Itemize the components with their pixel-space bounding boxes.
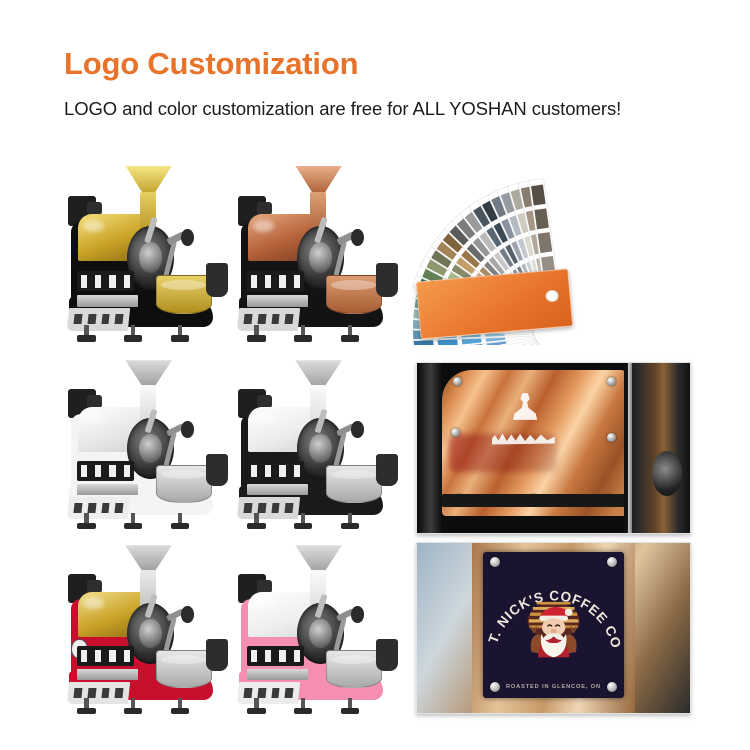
product-gallery: ST. NICK'S COFFEE CO. [0,150,750,725]
page-title: Logo Customization [64,48,704,79]
red-roaster-image [55,538,235,718]
brand-tagline: ROASTED IN GLENCOE, ON [491,684,616,690]
brand-badge-plate: ST. NICK'S COFFEE CO. [483,552,625,698]
gallery-item-white-roaster[interactable] [55,353,235,533]
copper-drum-cover [442,370,628,516]
header: Logo Customization LOGO and color custom… [64,48,704,119]
branded-label-scene: ST. NICK'S COFFEE CO. [417,543,690,713]
color-swatch-fan-image [412,160,702,345]
gallery-item-gold-roaster[interactable] [55,158,235,346]
white-roaster-image [55,353,235,533]
roaster-mechanism-side [624,363,690,533]
gold-roaster-image [55,158,235,346]
gallery-item-pink-roaster[interactable] [225,538,405,718]
copper-roaster-image [225,158,405,346]
black-roaster-image [225,353,405,533]
engraved-logo-mark-icon [508,393,541,428]
pink-roaster-image [225,538,405,718]
gallery-item-red-roaster[interactable] [55,538,235,718]
copper-drum-photo-frame [416,362,691,534]
gallery-item-black-roaster[interactable] [225,353,405,533]
gallery-item-branded-label-photo[interactable]: ST. NICK'S COFFEE CO. [416,542,691,714]
gallery-item-color-fan[interactable] [412,160,702,345]
logo-customization-page: Logo Customization LOGO and color custom… [0,0,750,750]
santa-logo-icon [521,590,586,666]
gallery-item-copper-drum-photo[interactable] [416,362,691,534]
page-subtitle: LOGO and color customization are free fo… [64,79,704,119]
copper-drum-scene [417,363,690,533]
gallery-item-copper-roaster[interactable] [225,158,405,346]
branded-label-photo-frame: ST. NICK'S COFFEE CO. [416,542,691,714]
engraved-logo-script [492,430,555,446]
